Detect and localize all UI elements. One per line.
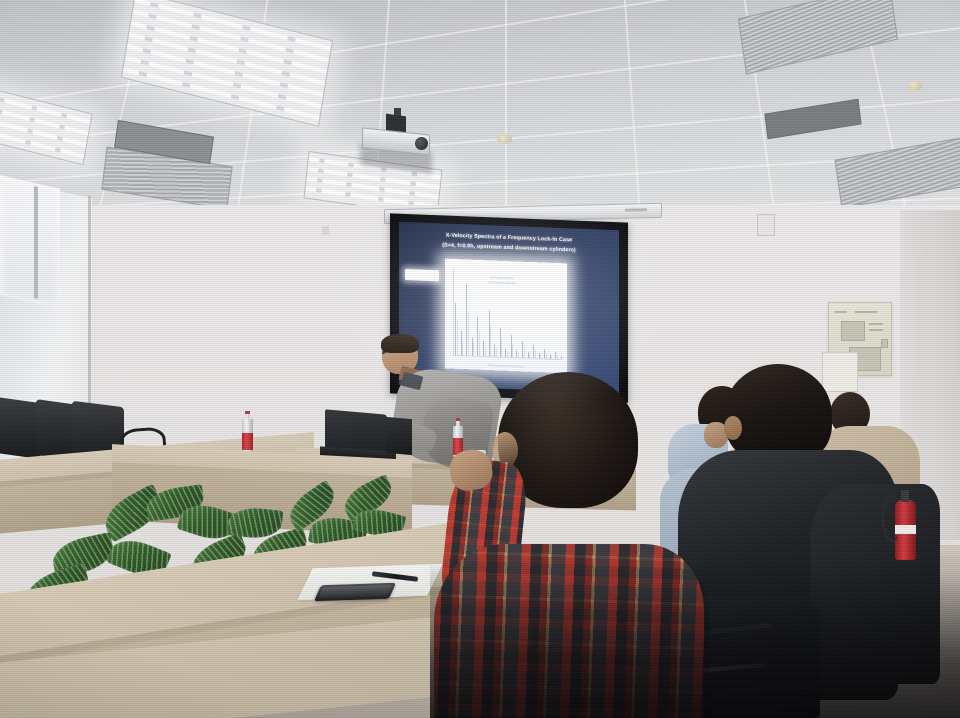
smoke-detector-icon	[907, 81, 922, 91]
wall-socket	[757, 214, 775, 236]
chart-bar	[524, 347, 525, 357]
attendee-dark-ear	[724, 416, 742, 440]
chart-series-area	[445, 259, 567, 264]
fire-extinguisher-valve	[901, 490, 909, 502]
chart-bar	[496, 349, 497, 357]
chart-bar	[457, 321, 458, 355]
screen-housing-label	[625, 208, 647, 211]
chart-bar	[490, 326, 491, 356]
chart-bar	[518, 353, 519, 357]
slide-surface: X-Velocity Spectra of a Frequency Lock-I…	[399, 222, 619, 393]
fire-extinguisher-hose	[882, 494, 902, 542]
ceiling-light-panel	[121, 0, 333, 127]
monitor	[386, 417, 412, 455]
chart-bar	[546, 353, 547, 359]
smartphone[interactable]	[314, 583, 396, 602]
chart-bar	[529, 354, 530, 358]
legend-item-downstream: downstream cylinder	[473, 279, 531, 286]
ceiling-light-slot	[764, 99, 861, 139]
attendee-dark-shoulder	[810, 484, 940, 684]
slide-title: X-Velocity Spectra of a Frequency Lock-I…	[405, 229, 613, 257]
presenter-hair	[381, 334, 419, 353]
chart-bar	[462, 340, 463, 355]
slide-callout-box	[405, 269, 439, 281]
smartphone-screen	[318, 585, 392, 598]
chart-bar	[485, 347, 486, 356]
projector-lens-icon	[415, 137, 428, 150]
smoke-detector-icon	[497, 134, 512, 144]
attendee-plaid-shading	[530, 568, 710, 718]
chart-bar	[535, 350, 536, 358]
window-mullion	[34, 186, 38, 299]
chart-bar	[512, 343, 513, 357]
wall-notice-paper	[822, 352, 858, 392]
fire-extinguisher	[895, 500, 916, 560]
chart-x-axis-label: Non-dimensional frequency	[445, 362, 567, 371]
water-bottle[interactable]	[241, 411, 254, 453]
chart-bar	[557, 355, 558, 359]
chart-bar	[501, 338, 502, 357]
chart-bar	[479, 331, 480, 356]
ceiling	[0, 0, 960, 232]
slide-chart: upstream cylinder downstream cylinder No…	[445, 259, 567, 374]
chart-bar	[468, 312, 469, 356]
wall-mark	[322, 226, 329, 235]
chart-y-axis	[453, 269, 454, 356]
window	[0, 175, 60, 309]
chart-legend: upstream cylinder downstream cylinder	[473, 274, 531, 290]
chart-bar	[563, 357, 564, 360]
chart-bar	[551, 356, 552, 359]
chart-bar	[473, 343, 474, 356]
chart-bar	[540, 355, 541, 358]
chart-bar	[507, 351, 508, 357]
meeting-room-photo: X-Velocity Spectra of a Frequency Lock-I…	[0, 0, 960, 718]
